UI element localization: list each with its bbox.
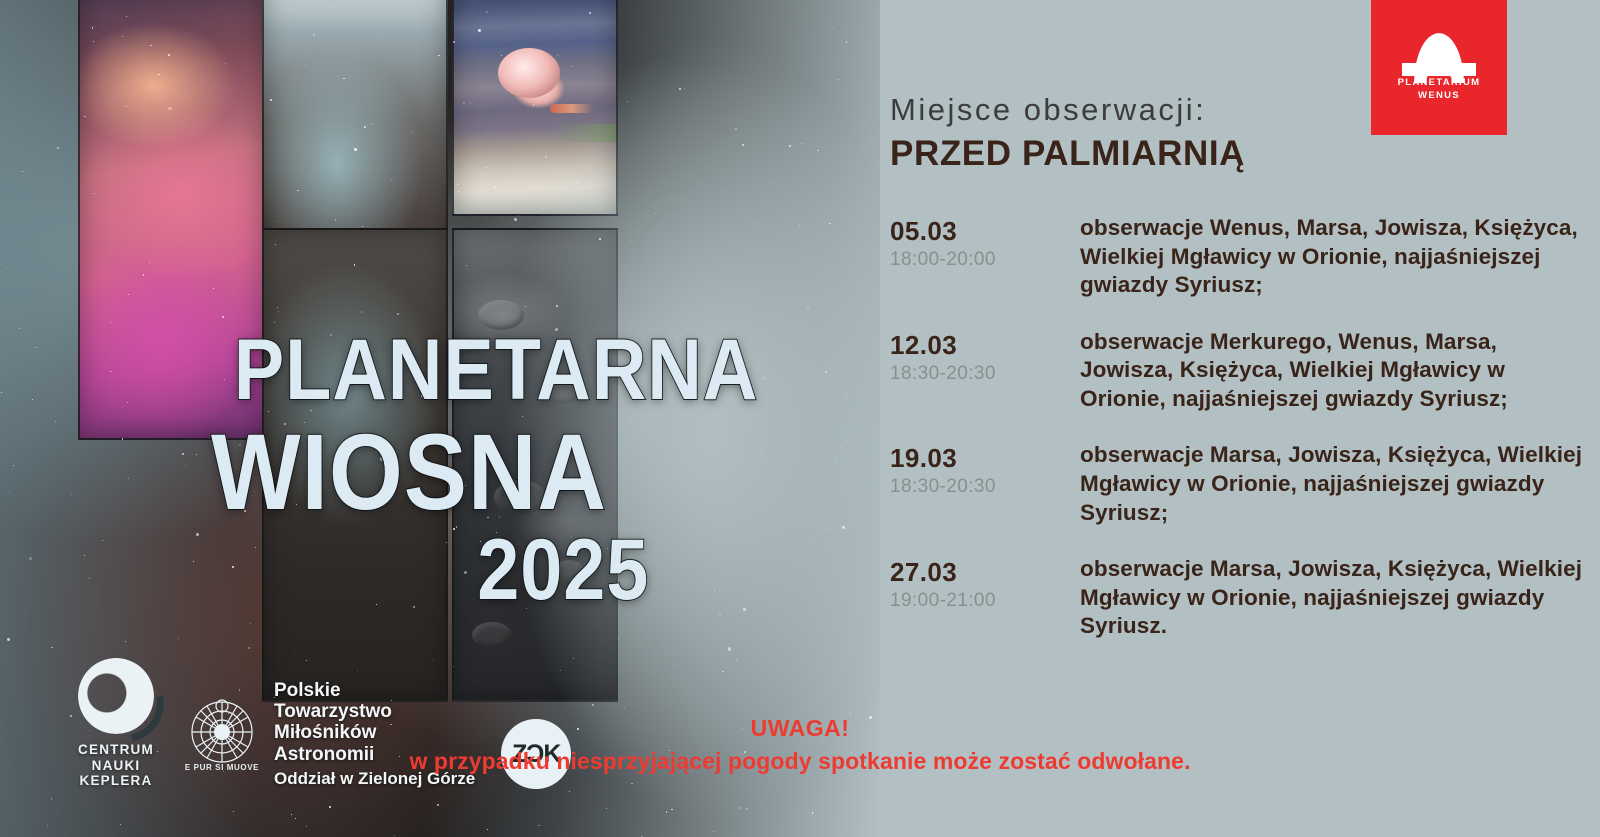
ptma-name-line1: Polskie	[274, 680, 475, 701]
schedule-item-description: obserwacje Merkurego, Wenus, Marsa, Jowi…	[1080, 328, 1590, 414]
title-line-wiosna: WIOSNA	[95, 421, 790, 523]
schedule-item-when: 27.03 19:00-21:00	[890, 555, 1080, 641]
brand-line-wenus: WENUS	[1398, 90, 1481, 103]
keplera-label-line3: KEPLERA	[78, 773, 154, 789]
jupiter-image-plate	[452, 0, 618, 216]
weather-notice: UWAGA! w przypadku niesprzyjającej pogod…	[0, 715, 1600, 775]
schedule-item-description: obserwacje Wenus, Marsa, Jowisza, Księży…	[1080, 214, 1590, 300]
schedule-item-when: 12.03 18:30-20:30	[890, 328, 1080, 414]
poster-root: PLANETARNA WIOSNA 2025 CENTRUM NAUKI KEP…	[0, 0, 1600, 837]
schedule-item-time: 18:30-20:30	[890, 363, 1080, 385]
schedule-item: 12.03 18:30-20:30 obserwacje Merkurego, …	[890, 328, 1590, 414]
schedule-item-when: 05.03 18:00-20:00	[890, 214, 1080, 300]
title-line-planetarna: PLANETARNA	[95, 330, 790, 411]
schedule-item-description: obserwacje Marsa, Jowisza, Księżyca, Wie…	[1080, 441, 1590, 527]
place-label: Miejsce obserwacji:	[890, 92, 1206, 128]
schedule-list: 05.03 18:00-20:00 obserwacje Wenus, Mars…	[890, 214, 1590, 669]
schedule-item-time: 19:00-21:00	[890, 590, 1080, 612]
planetarium-dome-icon	[1402, 33, 1476, 75]
schedule-item-date: 12.03	[890, 330, 1080, 361]
schedule-item-time: 18:00-20:00	[890, 249, 1080, 271]
jupiter-cloud-streak	[550, 104, 594, 113]
title-line-year: 2025	[95, 530, 790, 611]
jupiter-green-band	[550, 124, 616, 142]
info-panel: PLANETARIUM WENUS Miejsce obserwacji: PR…	[880, 0, 1600, 837]
crater-shape	[472, 622, 512, 648]
weather-notice-body: w przypadku niesprzyjającej pogody spotk…	[0, 748, 1600, 775]
schedule-item-date: 27.03	[890, 557, 1080, 588]
schedule-item: 27.03 19:00-21:00 obserwacje Marsa, Jowi…	[890, 555, 1590, 641]
schedule-item-date: 05.03	[890, 216, 1080, 247]
jupiter-great-red-spot	[498, 48, 560, 98]
schedule-item-when: 19.03 18:30-20:30	[890, 441, 1080, 527]
planetarium-wenus-logo: PLANETARIUM WENUS	[1371, 0, 1507, 135]
poster-title: PLANETARNA WIOSNA 2025	[0, 330, 790, 611]
schedule-item: 05.03 18:00-20:00 obserwacje Wenus, Mars…	[890, 214, 1590, 300]
place-value: PRZED PALMIARNIĄ	[890, 134, 1245, 174]
weather-notice-heading: UWAGA!	[0, 715, 1600, 742]
schedule-item-description: obserwacje Marsa, Jowisza, Księżyca, Wie…	[1080, 555, 1590, 641]
schedule-item-date: 19.03	[890, 443, 1080, 474]
schedule-item-time: 18:30-20:30	[890, 476, 1080, 498]
schedule-item: 19.03 18:30-20:30 obserwacje Marsa, Jowi…	[890, 441, 1590, 527]
